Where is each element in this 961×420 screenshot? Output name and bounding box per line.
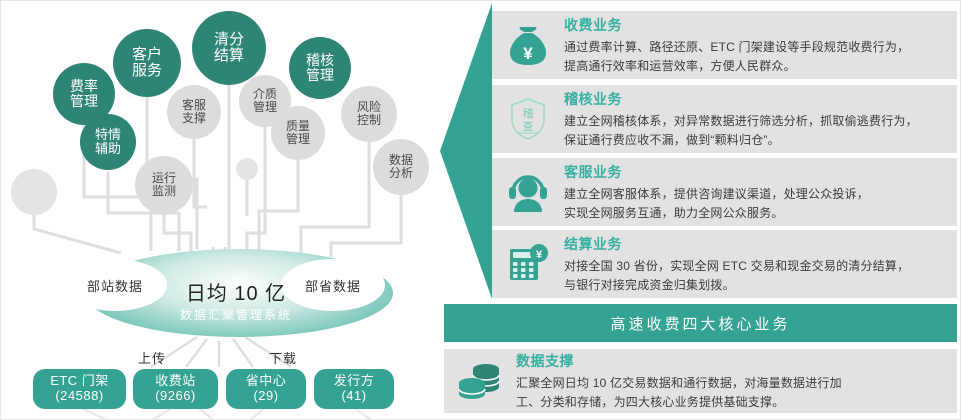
desc-line-2: 保证通行费应收不漏，做到“颗料归仓”。 (564, 131, 918, 150)
card-title: 收费业务 (564, 15, 909, 35)
card-title: 稽核业务 (564, 89, 918, 109)
node-line-2: 监测 (152, 185, 176, 198)
tree-node-service-support[interactable]: 客服 支撑 (167, 85, 221, 139)
card-title: 数据支撑 (516, 351, 842, 371)
desc-line-2: 提高通行效率和运营效率，方便人民群众。 (564, 57, 909, 76)
shield-audit-icon: 稽 查 (492, 85, 564, 153)
card-body: 客服业务 建立全网客服体系，提供咨询建议渠道，处理公众投诉， 实现全网服务互通，… (564, 160, 879, 224)
desc-line-1: 通过费率计算、路径还原、ETC 门架建设等手段规范收费行为， (564, 38, 909, 57)
card-service-business[interactable]: 客服业务 建立全网客服体系，提供咨询建议渠道，处理公众投诉， 实现全网服务互通，… (492, 158, 957, 226)
tree-node-data-analysis[interactable]: 数据 分析 (373, 139, 429, 195)
node-line-1: 清分 (214, 32, 244, 48)
infographic-root: 费率 管理 客户 服务 清分 结算 稽核 管理 特情 辅助 客服 支撑 介质 管… (0, 0, 961, 420)
source-pill-toll-station[interactable]: 收费站 (9266) (133, 369, 218, 409)
card-body: 收费业务 通过费率计算、路径还原、ETC 门架建设等手段规范收费行为， 提高通行… (564, 13, 919, 77)
node-line-1: 稽核 (306, 53, 334, 68)
card-title: 结算业务 (564, 234, 909, 254)
desc-line-2: 工、分类和存储，为四大核心业务提供基础支撑。 (516, 393, 842, 412)
node-line-2: 分析 (389, 167, 413, 180)
card-body: 数据支撑 汇聚全网日均 10 亿交易数据和通行数据，对海量数据进行加 工、分类和… (516, 349, 852, 413)
pill-line-1: 省中心 (246, 374, 287, 389)
tree-diagram-panel: 费率 管理 客户 服务 清分 结算 稽核 管理 特情 辅助 客服 支撑 介质 管… (1, 1, 461, 420)
desc-line-1: 建立全网客服体系，提供咨询建议渠道，处理公众投诉， (564, 185, 869, 204)
source-pill-issuer[interactable]: 发行方 (41) (314, 369, 394, 409)
tree-node-operation-monitor[interactable]: 运行 监测 (135, 156, 193, 214)
node-line-1: 特情 (95, 128, 121, 142)
card-description: 通过费率计算、路径还原、ETC 门架建设等手段规范收费行为， 提高通行效率和运营… (564, 38, 909, 75)
card-settlement-business[interactable]: ¥ 结算业务 对接全国 30 省份，实现全网 ETC 交易和现金交易的清分结算，… (492, 230, 957, 298)
tree-node-audit-management[interactable]: 稽核 管理 (289, 37, 351, 99)
pill-line-2: (9266) (155, 389, 196, 404)
desc-line-1: 对接全国 30 省份，实现全网 ETC 交易和现金交易的清分结算， (564, 257, 909, 276)
tree-node-risk-control[interactable]: 风险 控制 (341, 86, 397, 142)
pill-line-2: (29) (253, 389, 278, 404)
hub-daily-volume: 日均 10 亿 (146, 277, 326, 306)
node-line-2: 管理 (306, 68, 334, 83)
node-line-1: 费率 (70, 79, 98, 94)
node-line-2: 管理 (286, 133, 310, 146)
svg-text:¥: ¥ (536, 249, 543, 261)
database-stack-icon (444, 349, 516, 413)
headset-agent-icon (492, 158, 564, 226)
node-line-2: 支撑 (182, 112, 206, 125)
source-pill-etc-gantry[interactable]: ETC 门架 (24588) (33, 369, 126, 409)
calculator-yuan-icon: ¥ (492, 230, 564, 298)
hub-system-name: 数据汇聚管理系统 (141, 306, 331, 323)
node-line-1: 客户 (132, 47, 162, 63)
node-line-2: 管理 (70, 94, 98, 109)
svg-text:¥: ¥ (523, 44, 533, 63)
hub-left-text: 部站数据 (87, 276, 143, 295)
decorative-dot (236, 158, 258, 180)
pill-line-2: (24588) (55, 389, 103, 404)
card-description: 汇聚全网日均 10 亿交易数据和通行数据，对海量数据进行加 工、分类和存储，为四… (516, 374, 842, 411)
pill-line-2: (41) (341, 389, 366, 404)
pill-line-1: ETC 门架 (50, 374, 109, 389)
tree-node-special-assist[interactable]: 特情 辅助 (80, 114, 136, 170)
core-business-banner: 高速收费四大核心业务 (444, 304, 957, 342)
tree-node-clearing-settlement[interactable]: 清分 结算 (192, 11, 266, 85)
source-pill-provincial-center[interactable]: 省中心 (29) (226, 369, 306, 409)
money-bag-icon: ¥ (492, 11, 564, 79)
desc-line-1: 汇聚全网日均 10 亿交易数据和通行数据，对海量数据进行加 (516, 374, 842, 393)
card-description: 建立全网稽核体系，对异常数据进行筛选分析，抓取偷逃费行为， 保证通行费应收不漏，… (564, 112, 918, 149)
card-description: 建立全网客服体系，提供咨询建议渠道，处理公众投诉， 实现全网服务互通，助力全网公… (564, 185, 869, 222)
card-body: 结算业务 对接全国 30 省份，实现全网 ETC 交易和现金交易的清分结算， 与… (564, 232, 919, 296)
desc-line-2: 与银行对接完成资金归集划拨。 (564, 276, 909, 295)
node-line-2: 辅助 (95, 142, 121, 156)
node-line-2: 服务 (132, 63, 162, 79)
svg-text:稽: 稽 (523, 106, 534, 120)
left-pointing-arrow-icon (436, 1, 496, 301)
pill-line-1: 发行方 (334, 374, 375, 389)
node-line-2: 管理 (253, 101, 277, 114)
node-line-2: 控制 (357, 114, 381, 127)
decorative-dot (11, 169, 57, 215)
tree-node-quality-management[interactable]: 质量 管理 (271, 106, 325, 160)
svg-text:查: 查 (523, 119, 534, 133)
flow-label-upload: 上传 (138, 348, 166, 367)
card-toll-business[interactable]: ¥ 收费业务 通过费率计算、路径还原、ETC 门架建设等手段规范收费行为， 提高… (492, 11, 957, 79)
tree-node-customer-service[interactable]: 客户 服务 (113, 29, 181, 97)
business-cards-panel: ¥ 收费业务 通过费率计算、路径还原、ETC 门架建设等手段规范收费行为， 提高… (444, 1, 961, 420)
card-data-support[interactable]: 数据支撑 汇聚全网日均 10 亿交易数据和通行数据，对海量数据进行加 工、分类和… (444, 349, 957, 413)
card-body: 稽核业务 建立全网稽核体系，对异常数据进行筛选分析，抓取偷逃费行为， 保证通行费… (564, 87, 928, 151)
desc-line-1: 建立全网稽核体系，对异常数据进行筛选分析，抓取偷逃费行为， (564, 112, 918, 131)
card-description: 对接全国 30 省份，实现全网 ETC 交易和现金交易的清分结算， 与银行对接完… (564, 257, 909, 294)
flow-label-download: 下载 (269, 348, 297, 367)
node-line-2: 结算 (214, 48, 244, 64)
card-title: 客服业务 (564, 162, 869, 182)
desc-line-2: 实现全网服务互通，助力全网公众服务。 (564, 204, 869, 223)
pill-line-1: 收费站 (155, 374, 196, 389)
card-audit-business[interactable]: 稽 查 稽核业务 建立全网稽核体系，对异常数据进行筛选分析，抓取偷逃费行为， 保… (492, 85, 957, 153)
